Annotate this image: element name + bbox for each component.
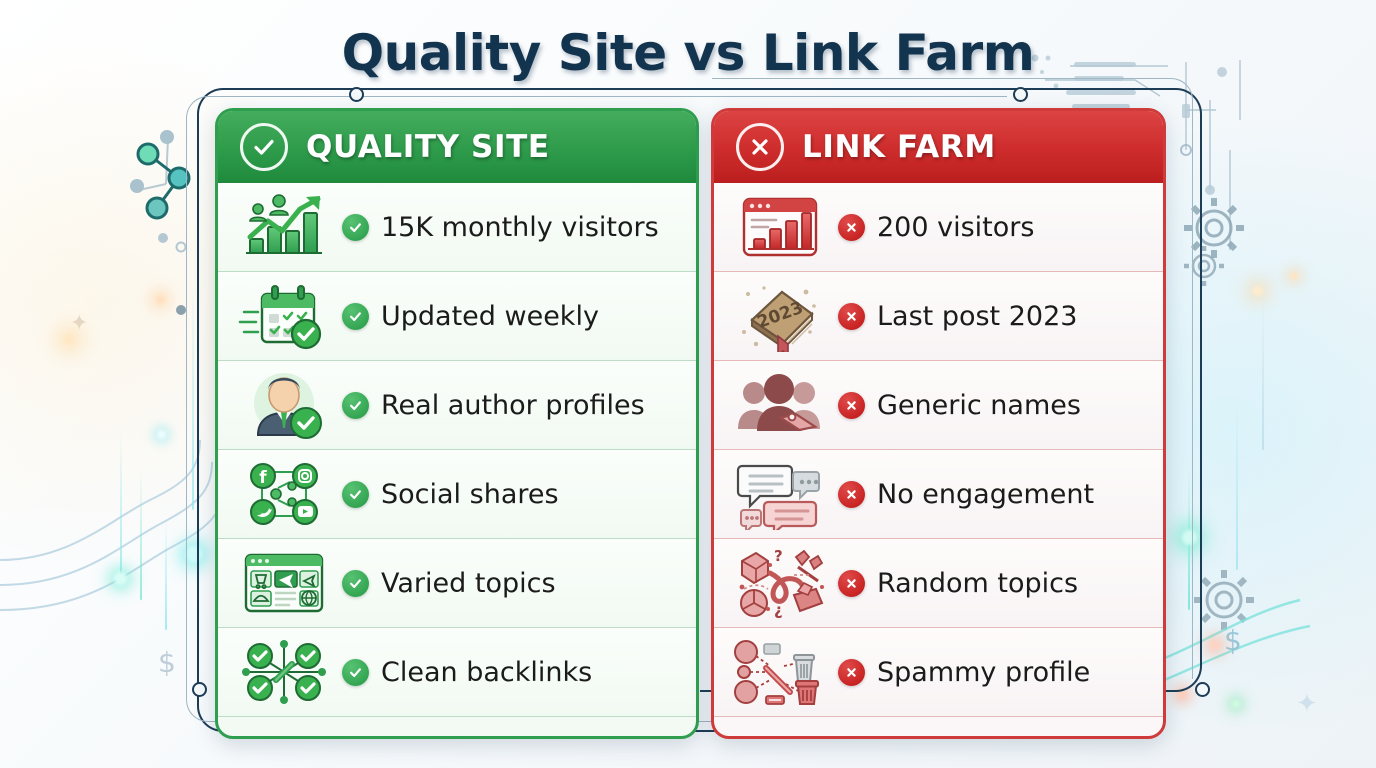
- svg-text:?: ?: [774, 547, 783, 565]
- check-badge-icon: [342, 659, 369, 686]
- calendar-check-icon: [236, 279, 332, 353]
- list-item: Clean backlinks: [218, 628, 696, 717]
- quality-site-rows: 15K monthly visitors: [218, 183, 696, 717]
- link-farm-header: LINK FARM: [714, 111, 1163, 183]
- list-item: 15K monthly visitors: [218, 183, 696, 272]
- list-item-label: Generic names: [877, 390, 1081, 421]
- dusty-book-2023-icon: 2023: [732, 279, 828, 353]
- verified-author-icon: [236, 368, 332, 442]
- list-item: Real author profiles: [218, 361, 696, 450]
- list-item: No engagement: [714, 450, 1163, 539]
- list-item: ? ¿ Random topics: [714, 539, 1163, 628]
- x-badge-icon: [838, 570, 865, 597]
- growth-chart-icon: [236, 190, 332, 264]
- list-item: f Social shares: [218, 450, 696, 539]
- check-badge-icon: [342, 392, 369, 419]
- quality-site-card: QUALITY SITE: [215, 108, 699, 739]
- svg-text:$: $: [1224, 624, 1242, 657]
- svg-text:¿: ¿: [774, 601, 783, 619]
- clean-backlinks-icon: [236, 635, 332, 709]
- x-circle-icon: [736, 123, 784, 171]
- quality-site-header-label: QUALITY SITE: [306, 129, 550, 165]
- link-farm-header-label: LINK FARM: [802, 129, 996, 165]
- list-item-label: Updated weekly: [381, 301, 599, 332]
- page-title: Quality Site vs Link Farm: [0, 24, 1376, 82]
- list-item-label: 15K monthly visitors: [381, 212, 659, 243]
- broken-links-trash-icon: [732, 635, 828, 709]
- x-badge-icon: [838, 214, 865, 241]
- svg-text:✦: ✦: [1296, 689, 1318, 719]
- x-badge-icon: [838, 481, 865, 508]
- list-item-label: Random topics: [877, 568, 1078, 599]
- list-item-label: Varied topics: [381, 568, 556, 599]
- check-circle-icon: [240, 123, 288, 171]
- list-item: Generic names: [714, 361, 1163, 450]
- list-item-label: Last post 2023: [877, 301, 1077, 332]
- list-item: Updated weekly: [218, 272, 696, 361]
- list-item: 200 visitors: [714, 183, 1163, 272]
- list-item-label: Real author profiles: [381, 390, 645, 421]
- x-badge-icon: [838, 392, 865, 419]
- check-badge-icon: [342, 303, 369, 330]
- frame-node-bottom-left: [192, 682, 207, 697]
- svg-text:$: $: [158, 646, 176, 679]
- topics-browser-icon: [236, 546, 332, 620]
- quality-site-header: QUALITY SITE: [218, 111, 696, 183]
- frame-node-bottom-right: [1195, 682, 1210, 697]
- declining-chart-icon: [732, 190, 828, 264]
- list-item: Varied topics: [218, 539, 696, 628]
- x-badge-icon: [838, 303, 865, 330]
- svg-text:f: f: [259, 468, 267, 488]
- check-badge-icon: [342, 481, 369, 508]
- empty-comments-icon: [732, 457, 828, 531]
- link-farm-rows: 200 visitors 2023 L: [714, 183, 1163, 717]
- gear-bottom-icon: [1194, 570, 1254, 630]
- scattered-shapes-icon: ? ¿: [732, 546, 828, 620]
- list-item-label: Spammy profile: [877, 657, 1090, 688]
- list-item-label: Social shares: [381, 479, 559, 510]
- list-item: Spammy profile: [714, 628, 1163, 717]
- check-badge-icon: [342, 570, 369, 597]
- link-farm-card: LINK FARM: [711, 108, 1166, 739]
- frame-node-left: [349, 87, 364, 102]
- social-network-icon: f: [236, 457, 332, 531]
- frame-node-right: [1013, 87, 1028, 102]
- list-item: 2023 Last post 2023: [714, 272, 1163, 361]
- list-item-label: No engagement: [877, 479, 1094, 510]
- x-badge-icon: [838, 659, 865, 686]
- list-item-label: 200 visitors: [877, 212, 1034, 243]
- check-badge-icon: [342, 214, 369, 241]
- svg-text:✦: ✦: [70, 311, 88, 336]
- anonymous-users-icon: [732, 368, 828, 442]
- node-network-icon: [130, 130, 189, 315]
- list-item-label: Clean backlinks: [381, 657, 592, 688]
